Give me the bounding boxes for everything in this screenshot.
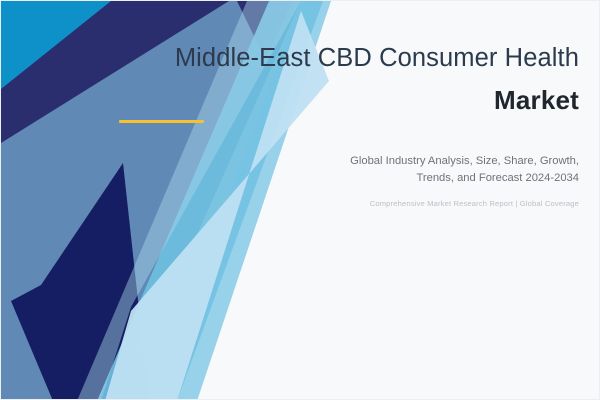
- subtitle-line-1: Global Industry Analysis, Size, Share, G…: [350, 155, 579, 167]
- heading-market-wrapper: Market: [119, 85, 579, 123]
- page-title: Middle-East CBD Consumer Health: [119, 43, 579, 73]
- footnote: Comprehensive Market Research Report | G…: [159, 199, 579, 210]
- subtitle: Global Industry Analysis, Size, Share, G…: [159, 153, 579, 187]
- cover-text-block: Middle-East CBD Consumer Health Market G…: [1, 1, 600, 400]
- heading-accent-underline: [119, 120, 204, 123]
- report-cover-page: Middle-East CBD Consumer Health Market G…: [0, 0, 600, 400]
- subtitle-line-2: Trends, and Forecast 2024-2034: [416, 172, 579, 184]
- heading-market: Market: [494, 85, 579, 116]
